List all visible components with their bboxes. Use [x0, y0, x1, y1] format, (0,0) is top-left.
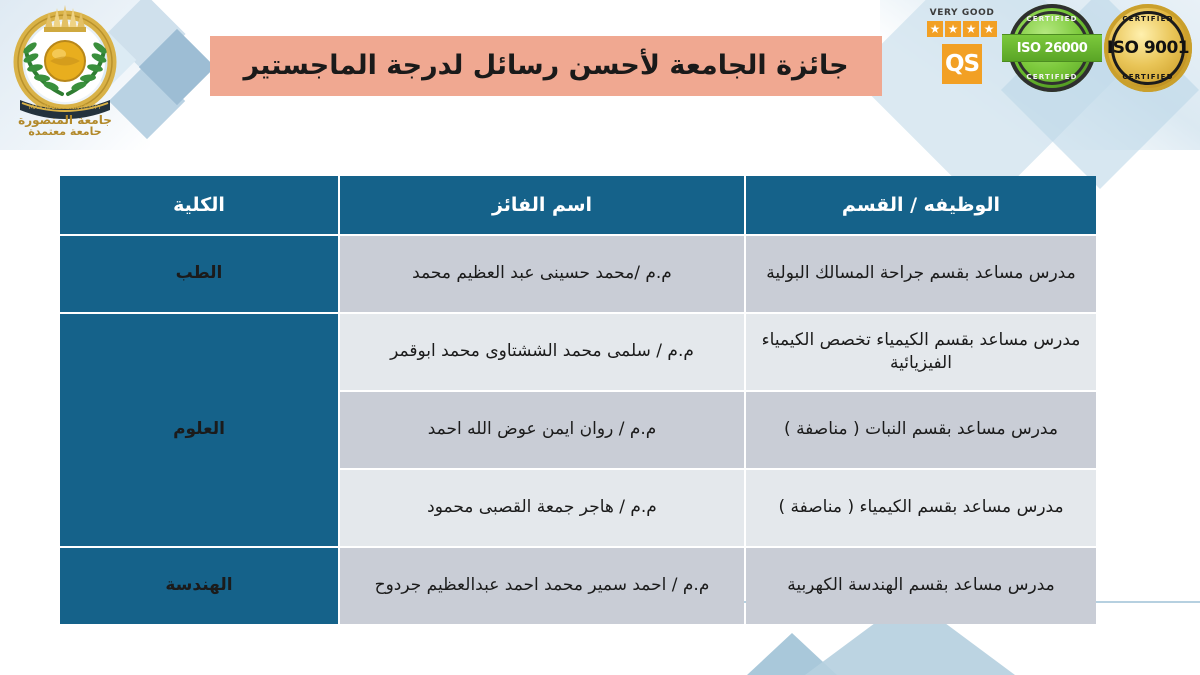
cell-winner-name: م.م / سلمى محمد الششتاوى محمد ابوقمر: [340, 314, 744, 390]
qs-star-row: ★ ★ ★ ★: [927, 21, 997, 37]
page-title: جائزة الجامعة لأحسن رسائل لدرجة الماجستي…: [243, 49, 848, 83]
slide-title-banner: جائزة الجامعة لأحسن رسائل لدرجة الماجستي…: [210, 36, 882, 96]
table-body: مدرس مساعد بقسم جراحة المسالك البوليةم.م…: [60, 236, 1096, 624]
award-winners-table: الوظيفه / القسم اسم الفائز الكلية مدرس م…: [58, 174, 1098, 626]
cell-job: مدرس مساعد بقسم الكيمياء ( مناصفة ): [746, 470, 1096, 546]
qs-logo: QS: [942, 44, 982, 84]
certified-text-top: CERTIFIED: [1104, 15, 1192, 23]
chevron-decoration-2: [139, 29, 215, 105]
column-header-job: الوظيفه / القسم: [746, 176, 1096, 234]
badge-ribbon: ISO 9001: [1098, 35, 1198, 61]
table-row: مدرس مساعد بقسم الهندسة الكهربيةم.م / اح…: [60, 548, 1096, 624]
cell-job: مدرس مساعد بقسم الهندسة الكهربية: [746, 548, 1096, 624]
certified-text-bottom: CERTIFIED: [1008, 73, 1096, 81]
cell-winner-name: م.م / روان ايمن عوض الله احمد: [340, 392, 744, 468]
cell-winner-name: م.م /محمد حسينى عبد العظيم محمد: [340, 236, 744, 312]
slide-canvas: MANSOURA UNIVERSITY جامعة المنصورة جامعة…: [0, 0, 1200, 675]
iso-9001-label: ISO 9001: [1107, 38, 1189, 58]
table-row: مدرس مساعد بقسم جراحة المسالك البوليةم.م…: [60, 236, 1096, 312]
cell-faculty: الهندسة: [60, 548, 338, 624]
star-icon: ★: [963, 21, 979, 37]
certification-badges: VERY GOOD ★ ★ ★ ★ QS CERTIFIED CERTIFIED…: [924, 4, 1192, 104]
iso-9001-badge: CERTIFIED CERTIFIED ISO 9001: [1104, 4, 1192, 92]
svg-text:جامعة معتمدة: جامعة معتمدة: [28, 125, 101, 136]
certified-text-bottom: CERTIFIED: [1104, 73, 1192, 81]
cell-job: مدرس مساعد بقسم النبات ( مناصفة ): [746, 392, 1096, 468]
cell-job: مدرس مساعد بقسم الكيمياء تخصص الكيمياء ا…: [746, 314, 1096, 390]
star-icon: ★: [945, 21, 961, 37]
qs-rating-badge: VERY GOOD ★ ★ ★ ★ QS: [924, 4, 1000, 84]
mansoura-university-logo: MANSOURA UNIVERSITY جامعة المنصورة جامعة…: [6, 4, 124, 136]
star-icon: ★: [927, 21, 943, 37]
table-header: الوظيفه / القسم اسم الفائز الكلية: [60, 176, 1096, 234]
cell-winner-name: م.م / هاجر جمعة القصبى محمود: [340, 470, 744, 546]
star-icon: ★: [981, 21, 997, 37]
bottom-triangle-small: [747, 633, 837, 675]
cell-faculty: الطب: [60, 236, 338, 312]
award-table-wrapper: الوظيفه / القسم اسم الفائز الكلية مدرس م…: [66, 174, 1098, 626]
cell-winner-name: م.م / احمد سمير محمد احمد عبدالعظيم جردو…: [340, 548, 744, 624]
iso-26000-label: ISO 26000: [1017, 41, 1088, 56]
certified-text-top: CERTIFIED: [1008, 15, 1096, 23]
badge-ribbon: ISO 26000: [1002, 34, 1102, 62]
table-header-row: الوظيفه / القسم اسم الفائز الكلية: [60, 176, 1096, 234]
iso-26000-badge: CERTIFIED CERTIFIED ISO 26000: [1008, 4, 1096, 92]
svg-text:MANSOURA UNIVERSITY: MANSOURA UNIVERSITY: [29, 104, 102, 111]
cell-job: مدرس مساعد بقسم جراحة المسالك البولية: [746, 236, 1096, 312]
cell-faculty: العلوم: [60, 314, 338, 546]
table-row: مدرس مساعد بقسم الكيمياء تخصص الكيمياء ا…: [60, 314, 1096, 390]
column-header-faculty: الكلية: [60, 176, 338, 234]
column-header-name: اسم الفائز: [340, 176, 744, 234]
qs-rating-label: VERY GOOD: [930, 8, 995, 18]
